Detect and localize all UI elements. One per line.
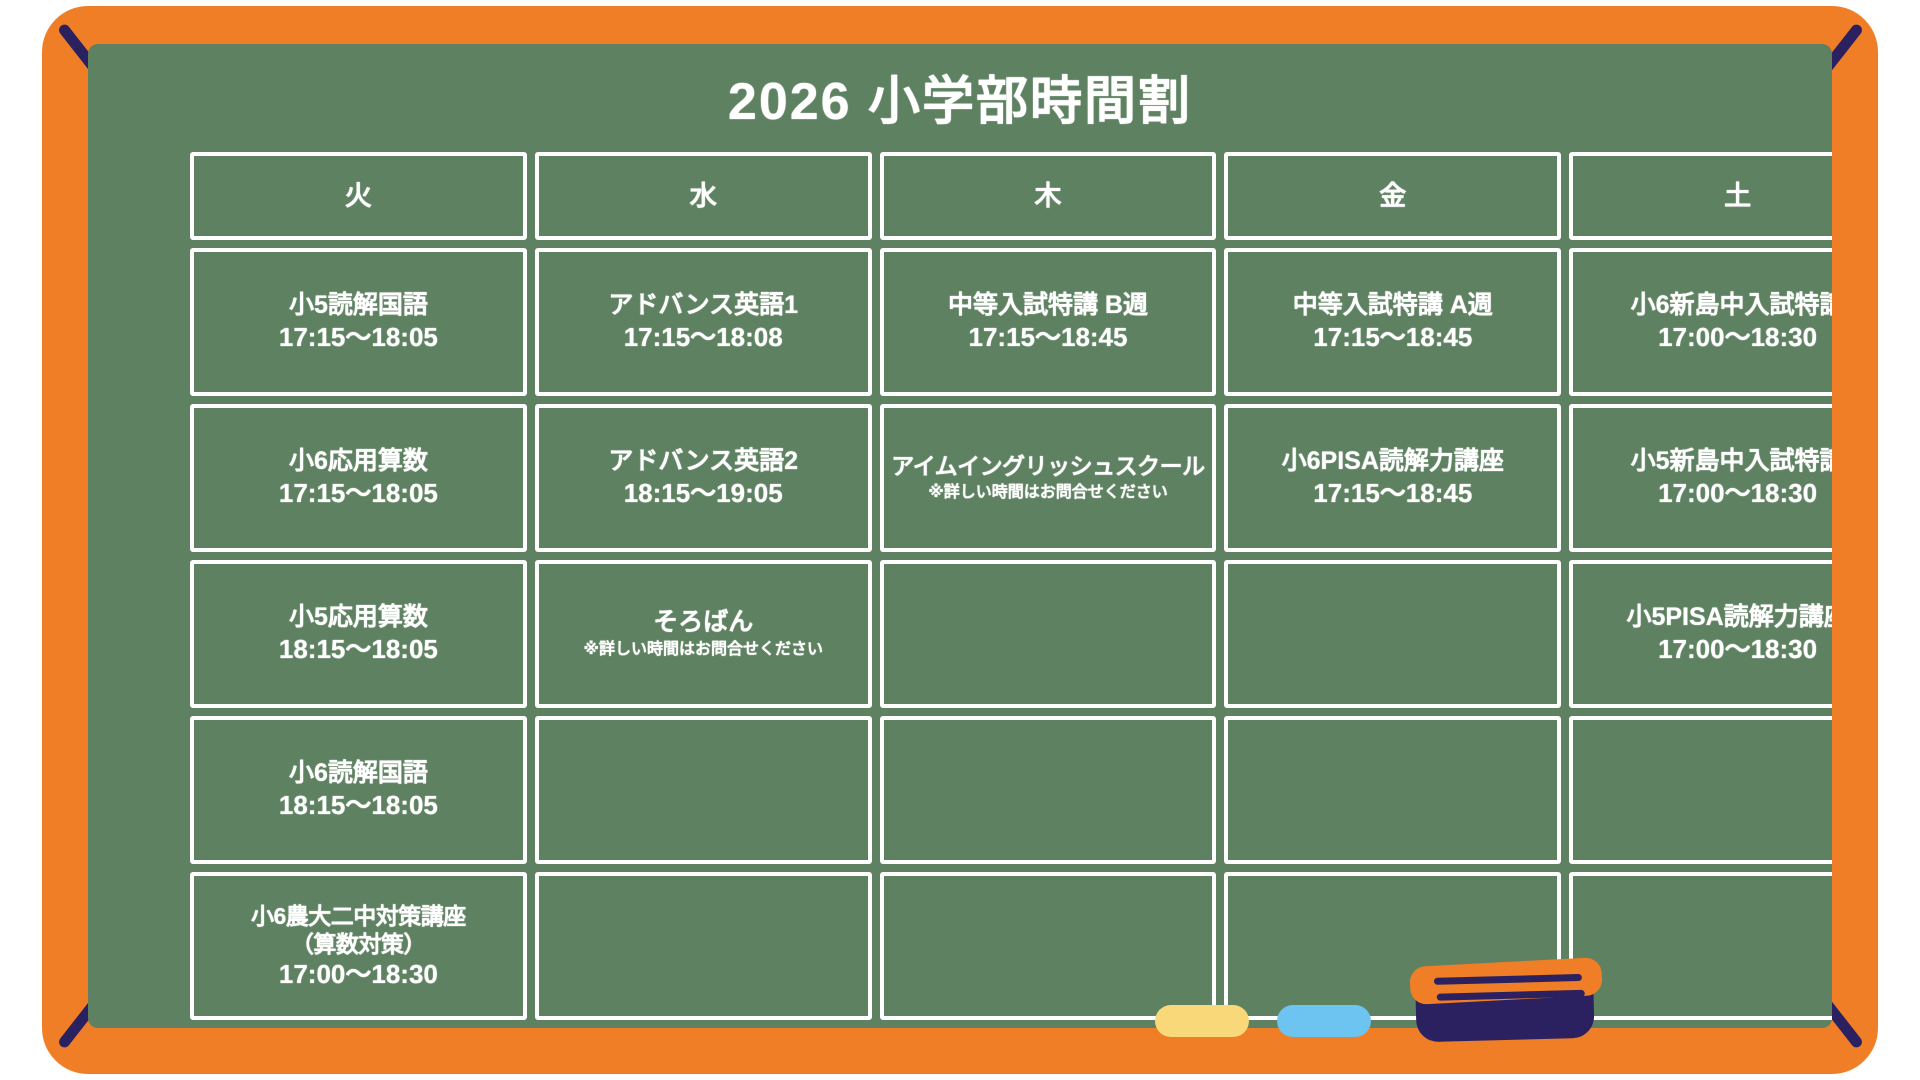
timetable-cell-course: アドバンス英語218:15〜19:05 xyxy=(535,404,872,552)
course-time: 17:15〜18:45 xyxy=(1313,321,1472,354)
page-title: 2026 小学部時間割 xyxy=(88,76,1832,128)
course-note: ※詳しい時間はお問合せください xyxy=(583,640,823,661)
day-header-label: 木 xyxy=(1034,183,1061,210)
timetable-cell-course: 小5読解国語17:15〜18:05 xyxy=(190,248,527,396)
timetable-cell-empty xyxy=(535,716,872,864)
timetable-cell-empty xyxy=(1224,560,1561,708)
day-header-2: 木 xyxy=(880,152,1217,240)
course-time: 17:15〜18:08 xyxy=(624,321,783,354)
course-name: 中等入試特講 B週 xyxy=(948,290,1148,321)
course-time: 17:00〜18:30 xyxy=(1658,477,1817,510)
day-header-label: 土 xyxy=(1724,183,1751,210)
chalk-blue-icon xyxy=(1277,1005,1371,1037)
day-header-label: 金 xyxy=(1379,183,1406,210)
timetable-cell-empty xyxy=(1224,716,1561,864)
course-name: アイムイングリッシュスクール xyxy=(891,452,1204,480)
timetable-cell-empty xyxy=(880,872,1217,1020)
timetable-grid: 火水木金土小5読解国語17:15〜18:05アドバンス英語117:15〜18:0… xyxy=(190,152,1832,1020)
course-name: 小6PISA読解力講座 xyxy=(1282,446,1504,477)
timetable-poster: 2026 小学部時間割 火水木金土小5読解国語17:15〜18:05アドバンス英… xyxy=(0,0,1920,1080)
timetable-cell-course: 小6読解国語18:15〜18:05 xyxy=(190,716,527,864)
timetable-cell-empty xyxy=(880,560,1217,708)
blackboard-eraser-icon xyxy=(1410,962,1602,1040)
course-time: 17:15〜18:05 xyxy=(279,321,438,354)
course-name: 小5PISA読解力講座 xyxy=(1626,602,1832,633)
timetable-cell-course: 小6新島中入試特講17:00〜18:30 xyxy=(1569,248,1832,396)
course-time: 17:15〜18:45 xyxy=(1313,477,1472,510)
day-header-0: 火 xyxy=(190,152,527,240)
day-header-label: 火 xyxy=(345,183,372,210)
timetable-cell-course: アイムイングリッシュスクール※詳しい時間はお問合せください xyxy=(880,404,1217,552)
timetable-cell-empty xyxy=(1569,716,1832,864)
course-time: 17:15〜18:45 xyxy=(968,321,1127,354)
timetable-cell-course: そろばん※詳しい時間はお問合せください xyxy=(535,560,872,708)
timetable-cell-course: 中等入試特講 B週17:15〜18:45 xyxy=(880,248,1217,396)
timetable-cell-empty xyxy=(880,716,1217,864)
course-time: 18:15〜18:05 xyxy=(279,633,438,666)
course-name: 小5読解国語 xyxy=(289,290,428,321)
timetable-cell-course: 小5新島中入試特講17:00〜18:30 xyxy=(1569,404,1832,552)
day-header-4: 土 xyxy=(1569,152,1832,240)
timetable-cell-course: 小6PISA読解力講座17:15〜18:45 xyxy=(1224,404,1561,552)
timetable-cell-course: 小6農大二中対策講座（算数対策）17:00〜18:30 xyxy=(190,872,527,1020)
timetable-cell-course: 小5PISA読解力講座17:00〜18:30 xyxy=(1569,560,1832,708)
course-name: 小5新島中入試特講 xyxy=(1631,446,1832,477)
course-time: 17:00〜18:30 xyxy=(1658,633,1817,666)
timetable-cell-course: 小5応用算数18:15〜18:05 xyxy=(190,560,527,708)
day-header-3: 金 xyxy=(1224,152,1561,240)
chalk-yellow-icon xyxy=(1155,1005,1249,1037)
timetable-cell-course: 小6応用算数17:15〜18:05 xyxy=(190,404,527,552)
eraser-stripe xyxy=(1434,974,1582,985)
course-time: 17:00〜18:30 xyxy=(1658,321,1817,354)
timetable-cell-empty xyxy=(535,872,872,1020)
course-name: 中等入試特講 A週 xyxy=(1293,290,1493,321)
course-name: そろばん xyxy=(653,607,753,638)
timetable-cell-empty xyxy=(1569,872,1832,1020)
timetable-cell-course: アドバンス英語117:15〜18:08 xyxy=(535,248,872,396)
course-name: 小6応用算数 xyxy=(289,446,428,477)
course-time: 18:15〜18:05 xyxy=(279,789,438,822)
course-name: 小6農大二中対策講座（算数対策） xyxy=(251,902,466,958)
timetable-cell-course: 中等入試特講 A週17:15〜18:45 xyxy=(1224,248,1561,396)
course-name: 小6読解国語 xyxy=(289,758,428,789)
day-header-1: 水 xyxy=(535,152,872,240)
course-time: 17:00〜18:30 xyxy=(279,958,438,991)
course-time: 18:15〜19:05 xyxy=(624,477,783,510)
course-name: アドバンス英語1 xyxy=(608,290,798,321)
course-name: 小6新島中入試特講 xyxy=(1631,290,1832,321)
course-name: アドバンス英語2 xyxy=(608,446,798,477)
course-name: 小5応用算数 xyxy=(289,602,428,633)
chalkboard-surface: 2026 小学部時間割 火水木金土小5読解国語17:15〜18:05アドバンス英… xyxy=(88,44,1832,1028)
course-time: 17:15〜18:05 xyxy=(279,477,438,510)
course-note: ※詳しい時間はお問合せください xyxy=(928,483,1168,504)
day-header-label: 水 xyxy=(690,183,717,210)
